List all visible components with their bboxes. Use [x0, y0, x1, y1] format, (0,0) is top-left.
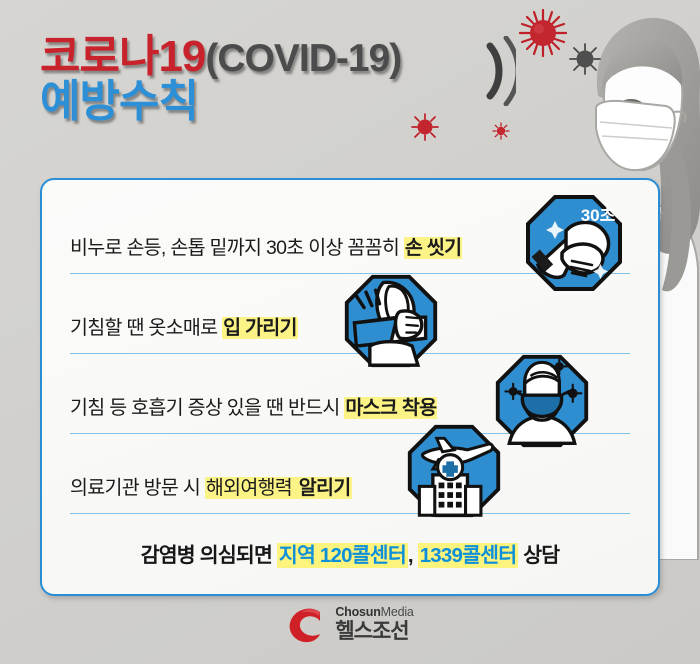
rule-3-text-before: 기침 등 호흡기 증상 있을 땐 반드시	[70, 397, 344, 419]
rule-1-text: 비누로 손등, 손톱 밑까지 30초 이상 꼼꼼히 손 씻기	[70, 231, 462, 260]
rule-4-highlight-plain: 해외여행력	[205, 477, 298, 499]
chosun-media-mark-icon	[286, 604, 326, 644]
title-korean: 코로나19	[40, 32, 205, 81]
title-line-2: 예방수칙	[40, 79, 401, 124]
rule-2-text: 기침할 땐 옷소매로 입 가리기	[70, 311, 298, 340]
publisher-logo: ChosunMedia 헬스조선	[0, 598, 700, 650]
callout-separator: ,	[408, 544, 418, 567]
cough-motion-lines-icon	[486, 36, 516, 106]
rule-item-4: 의료기관 방문 시 해외여행력 알리기	[70, 442, 630, 522]
cough-into-sleeve-icon	[341, 271, 441, 371]
rule-3-highlight: 마스크 착용	[344, 397, 437, 419]
rule-1-highlight: 손 씻기	[404, 237, 462, 259]
hand-washing-duration-badge: 30초	[581, 206, 616, 225]
rule-4-text: 의료기관 방문 시 해외여행력 알리기	[70, 471, 352, 500]
logo-text-block: ChosunMedia 헬스조선	[335, 606, 413, 643]
poster-root: 코로나19(COVID-19) 예방수칙 비누로 손등, 손톱 밑까지 30초 …	[0, 0, 700, 664]
hotline-callout: 감염병 의심되면 지역 120콜센터, 1339콜센터 상담	[42, 538, 658, 568]
rule-4-text-before: 의료기관 방문 시	[70, 477, 205, 499]
poster-title: 코로나19(COVID-19) 예방수칙	[40, 34, 401, 125]
logo-brand-korean: 헬스조선	[335, 621, 413, 642]
callout-number-1: 지역 120콜센터	[277, 543, 408, 568]
rule-1-text-before: 비누로 손등, 손톱 밑까지 30초 이상 꼼꼼히	[70, 237, 404, 259]
virus-particle-dark-icon	[568, 42, 602, 76]
title-line-1: 코로나19(COVID-19)	[40, 34, 401, 79]
callout-prefix: 감염병 의심되면	[141, 544, 277, 567]
airplane-hospital-icon	[404, 421, 504, 521]
logo-brand-light: Media	[381, 605, 414, 619]
face-mask-icon	[492, 351, 592, 451]
hand-washing-icon: 30초	[522, 191, 626, 295]
logo-brand-bold: Chosun	[335, 605, 380, 619]
rule-4-highlight: 알리기	[298, 477, 352, 499]
rule-4-divider	[70, 513, 630, 514]
logo-brand-line: ChosunMedia	[335, 606, 413, 619]
rule-2-text-before: 기침할 땐 옷소매로	[70, 317, 222, 339]
title-english: (COVID-19)	[205, 37, 401, 80]
virus-particle-red-large-icon	[516, 6, 570, 60]
callout-suffix: 상담	[518, 544, 559, 567]
virus-particle-red-medium-icon	[410, 112, 440, 142]
callout-number-2: 1339콜센터	[418, 543, 519, 568]
rule-3-text: 기침 등 호흡기 증상 있을 땐 반드시 마스크 착용	[70, 391, 437, 420]
rule-2-highlight: 입 가리기	[222, 317, 298, 339]
virus-particle-red-small-icon	[492, 122, 510, 140]
